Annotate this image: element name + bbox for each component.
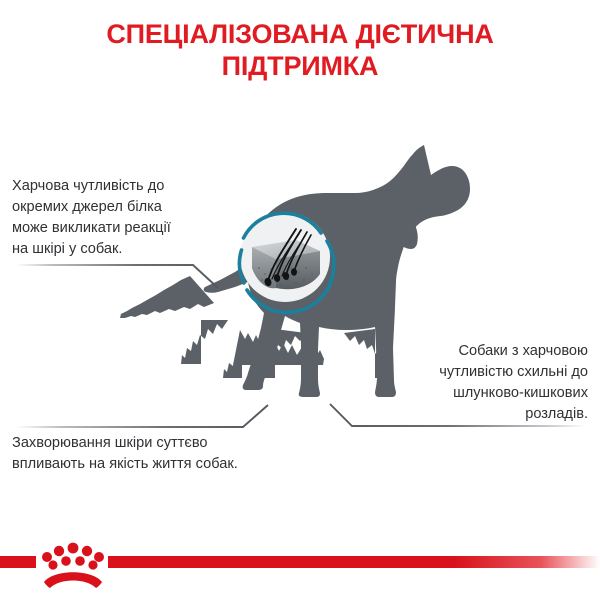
illustration-dog-with-skin-magnifier: [0, 0, 600, 600]
brand-bar-left-segment: [0, 556, 36, 568]
callout-text-digestive: Собаки з харчовою чутливістю схильні до …: [388, 341, 588, 425]
poster-canvas: СПЕЦІАЛІЗОВАНА ДІЄТИЧНА ПІДТРИМКА: [0, 0, 600, 600]
callout-text-skin-sensitivity: Харчова чутливість до окремих джерел біл…: [12, 176, 227, 260]
brand-bar-right-segment: [108, 556, 600, 568]
royal-canin-crown-logo: [38, 538, 108, 590]
callout-text-quality-of-life: Захворювання шкіри суттєво впливають на …: [12, 433, 302, 475]
